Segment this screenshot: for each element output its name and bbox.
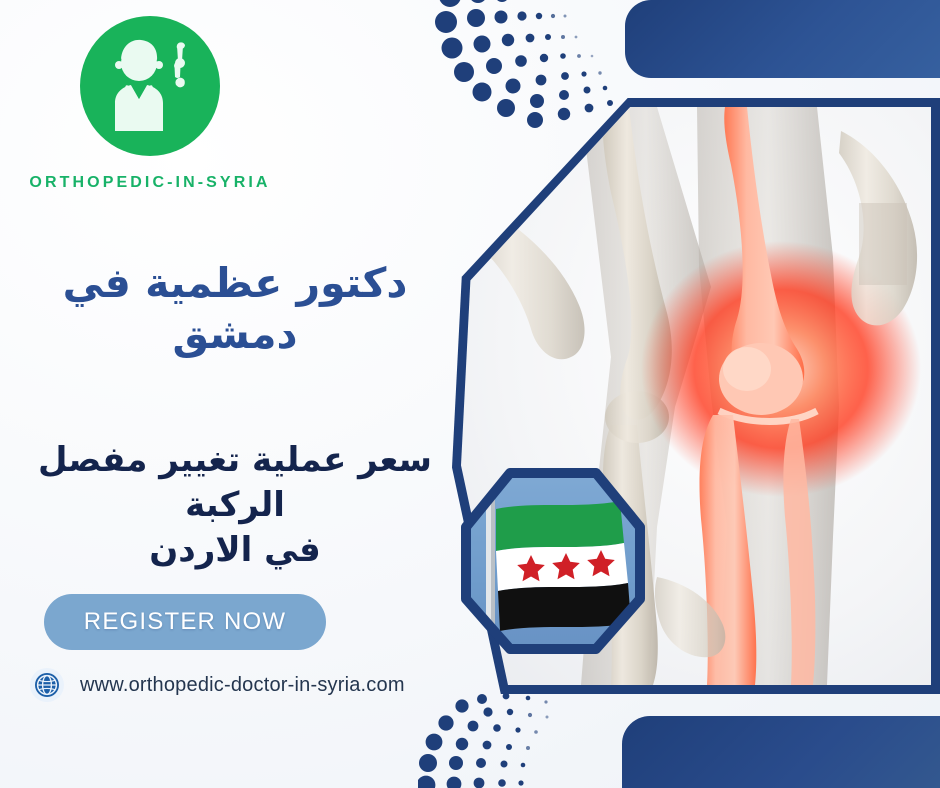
syrian-flag-badge	[448, 457, 658, 665]
page-title: دكتور عظمية في دمشق	[0, 258, 470, 361]
decor-navy-block-top	[625, 0, 940, 78]
subheading: سعر عملية تغيير مفصل الركبة في الاردن	[0, 438, 470, 573]
doctor-bone-icon	[80, 16, 220, 156]
promo-banner: ORTHOPEDIC-IN-SYRIA دكتور عظمية في دمشق …	[0, 0, 940, 788]
halftone-dots-top-icon	[432, 0, 632, 140]
halftone-dots-bottom-icon	[418, 690, 608, 788]
globe-icon	[30, 668, 64, 702]
subheading-line-2: في الاردن	[0, 528, 470, 573]
register-now-button[interactable]: REGISTER NOW	[44, 594, 326, 650]
website-url[interactable]: www.orthopedic-doctor-in-syria.com	[80, 674, 405, 697]
brand-name: ORTHOPEDIC-IN-SYRIA	[0, 174, 300, 192]
brand-logo: ORTHOPEDIC-IN-SYRIA	[0, 16, 300, 192]
subheading-line-1: سعر عملية تغيير مفصل الركبة	[0, 438, 470, 528]
website-row[interactable]: www.orthopedic-doctor-in-syria.com	[30, 668, 405, 702]
decor-navy-block-bottom	[622, 716, 940, 788]
